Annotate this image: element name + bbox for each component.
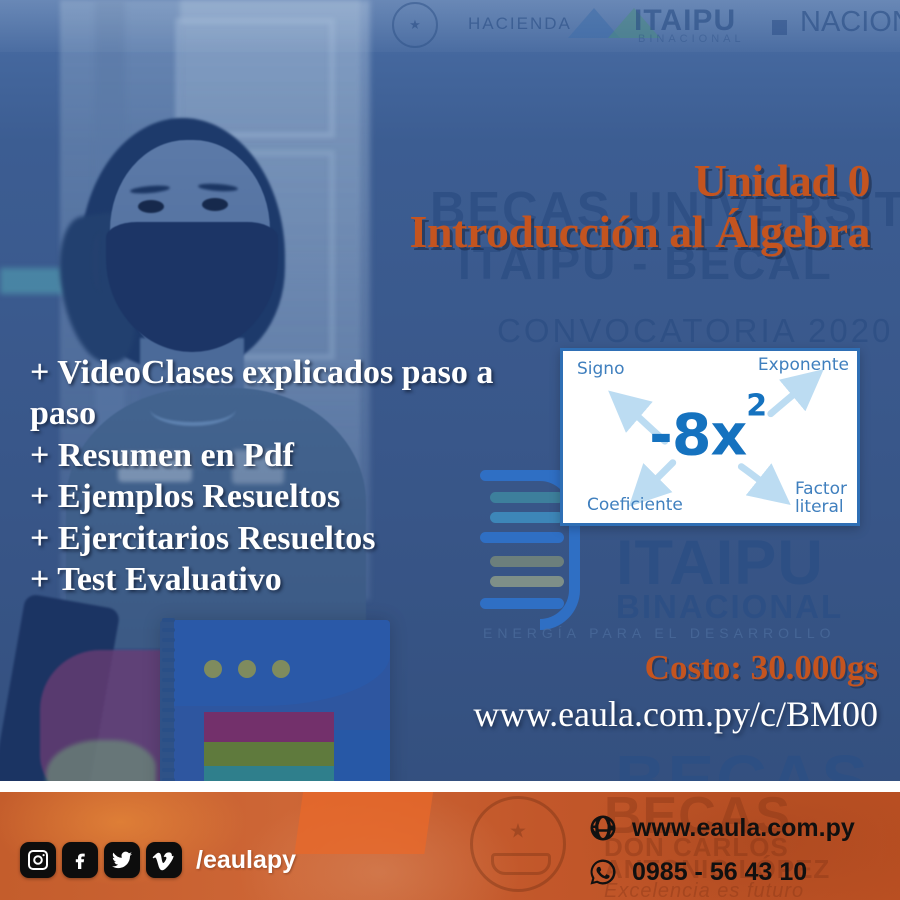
promo-poster: BECAS UNIVERSITARIAS ITAIPU - BECAL CONV…: [0, 0, 900, 900]
algebraic-expression: -8x2: [649, 403, 766, 469]
expression-exponent: 2: [746, 389, 766, 424]
label-coeficiente: Coeficiente: [587, 497, 683, 515]
whatsapp-icon: [588, 857, 618, 887]
feature-item: + Test Evaluativo: [30, 559, 540, 600]
price-label: Costo: 30.000gs: [645, 648, 878, 688]
social-handle[interactable]: /eaulapy: [196, 846, 296, 875]
label-factor-literal: Factor literal: [795, 481, 847, 517]
instagram-icon[interactable]: [20, 842, 56, 878]
page-title: Unidad 0 Introducción al Álgebra: [410, 158, 870, 256]
feature-item: + Ejemplos Resueltos: [30, 476, 540, 517]
poster-content: Unidad 0 Introducción al Álgebra + Video…: [0, 0, 900, 900]
phone-text[interactable]: 0985 - 56 43 10: [632, 858, 807, 887]
social-links: /eaulapy: [20, 842, 296, 878]
footer-divider: [0, 781, 900, 792]
course-url[interactable]: www.eaula.com.py/c/BM00: [473, 693, 878, 735]
globe-icon: [588, 813, 618, 843]
label-signo: Signo: [577, 361, 624, 379]
label-exponente: Exponente: [758, 357, 849, 375]
feature-item: + Resumen en Pdf: [30, 435, 540, 476]
becal-seal-icon: [470, 796, 566, 892]
website-text[interactable]: www.eaula.com.py: [632, 814, 855, 843]
vimeo-icon[interactable]: [146, 842, 182, 878]
expression-base: -8x: [649, 403, 746, 469]
algebra-term-diagram: Signo Exponente Coeficiente Factor liter…: [560, 348, 860, 526]
feature-item: + VideoClases explicados paso a paso: [30, 352, 540, 435]
title-line-subject: Introducción al Álgebra: [410, 209, 870, 256]
footer-orange-shape: [294, 792, 435, 854]
phone-row[interactable]: 0985 - 56 43 10: [588, 850, 855, 894]
feature-item: + Ejercitarios Resueltos: [30, 518, 540, 559]
contact-info: www.eaula.com.py 0985 - 56 43 10: [588, 806, 855, 894]
facebook-icon[interactable]: [62, 842, 98, 878]
label-literal: literal: [795, 497, 844, 517]
website-row[interactable]: www.eaula.com.py: [588, 806, 855, 850]
twitter-icon[interactable]: [104, 842, 140, 878]
feature-list: + VideoClases explicados paso a paso + R…: [30, 352, 540, 601]
title-line-unit: Unidad 0: [410, 158, 870, 205]
